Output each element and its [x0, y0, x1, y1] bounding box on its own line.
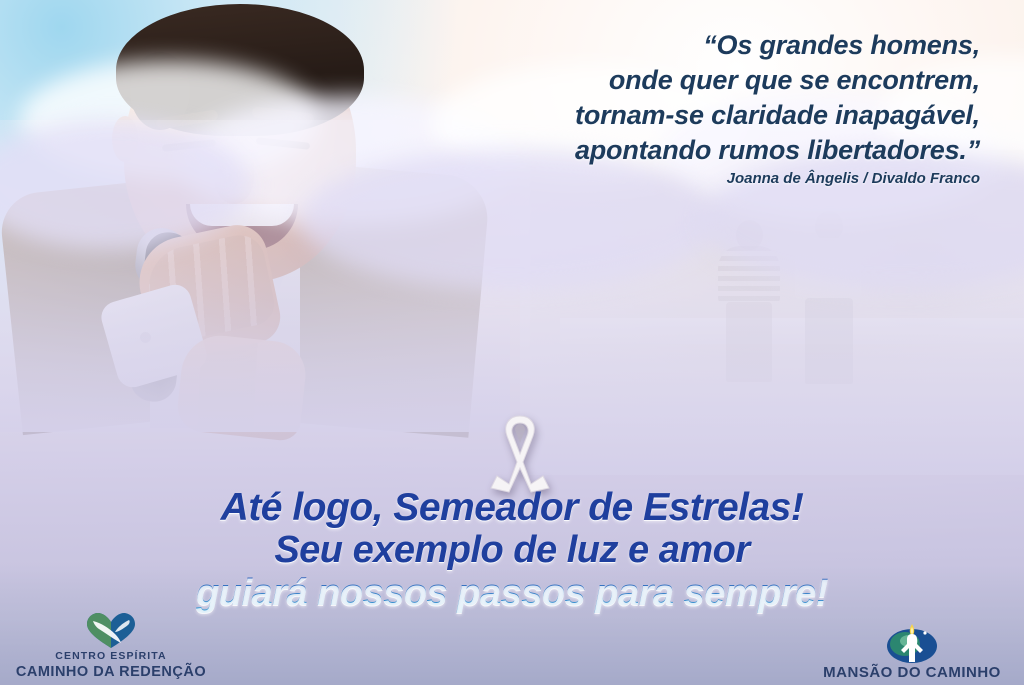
headline: Até logo, Semeador de Estrelas! Seu exem…	[0, 487, 1024, 613]
logo-centro-espirita: CENTRO ESPÍRITA CAMINHO DA REDENÇÃO	[6, 608, 216, 681]
quote-line-2: onde quer que se encontrem,	[460, 63, 980, 98]
logo-mansao-do-caminho: MANSÃO DO CAMINHO	[806, 622, 1018, 681]
quote-text: “Os grandes homens, onde quer que se enc…	[460, 28, 980, 168]
quote-line-3: tornam-se claridade inapagável,	[460, 98, 980, 133]
quote-attribution: Joanna de Ângelis / Divaldo Franco	[460, 170, 980, 187]
logo-caption-top: CENTRO ESPÍRITA	[6, 650, 216, 663]
logo-caption-bottom: CAMINHO DA REDENÇÃO	[6, 664, 216, 681]
logo-caption: MANSÃO DO CAMINHO	[806, 664, 1018, 681]
headline-line-1: Até logo, Semeador de Estrelas!	[0, 487, 1024, 528]
quote-line-4: apontando rumos libertadores.”	[460, 133, 980, 168]
memorial-poster: “Os grandes homens, onde quer que se enc…	[0, 0, 1024, 685]
headline-line-2: Seu exemplo de luz e amor	[0, 530, 1024, 570]
globe-figure-flame-icon	[806, 622, 1018, 664]
headline-line-3: guiará nossos passos para sempre!	[0, 573, 1024, 613]
quote-line-1: “Os grandes homens,	[460, 28, 980, 63]
white-ribbon-icon	[487, 410, 553, 494]
heart-hands-icon	[6, 608, 216, 650]
